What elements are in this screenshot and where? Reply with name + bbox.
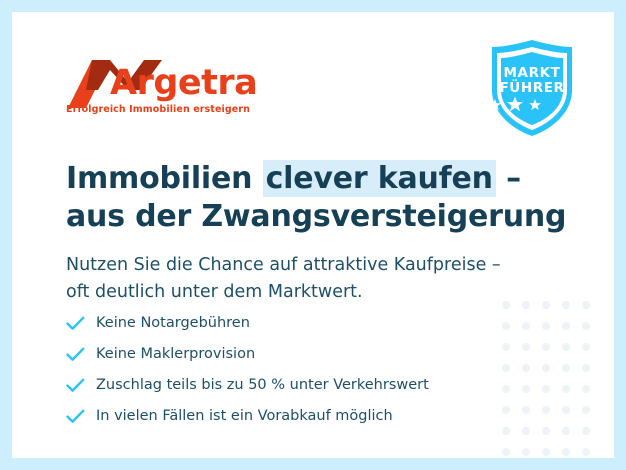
logo-wordmark: Argetra	[110, 66, 257, 101]
list-item: Keine Maklerprovision	[66, 339, 536, 370]
decorative-dot	[562, 322, 570, 330]
list-item-label: Keine Notargebühren	[96, 316, 250, 331]
subheadline-line-1: Nutzen Sie die Chance auf attraktive Kau…	[66, 252, 586, 279]
decorative-dot	[542, 427, 550, 435]
decorative-dot	[582, 343, 590, 351]
decorative-dot	[582, 448, 590, 456]
decorative-dot	[542, 343, 550, 351]
list-item: Keine Notargebühren	[66, 308, 536, 339]
decorative-dot	[562, 385, 570, 393]
subheadline-line-2: oft deutlich unter dem Marktwert.	[66, 279, 586, 306]
decorative-dot	[502, 448, 510, 456]
decorative-dot	[542, 448, 550, 456]
star-icon	[529, 99, 541, 110]
decorative-dot	[582, 406, 590, 414]
decorative-dot	[582, 364, 590, 372]
list-item-label: In vielen Fällen ist ein Vorabkauf mögli…	[96, 409, 393, 424]
list-item-label: Zuschlag teils bis zu 50 % unter Verkehr…	[96, 378, 429, 393]
headline-line-2: aus der Zwangsversteigerung	[66, 198, 566, 236]
list-item-label: Keine Maklerprovision	[96, 347, 255, 362]
page-title: Immobilien clever kaufen – aus der Zwang…	[66, 160, 566, 236]
check-icon	[66, 376, 96, 396]
check-icon	[66, 345, 96, 365]
decorative-dot	[582, 427, 590, 435]
decorative-dot	[542, 322, 550, 330]
banner-inner: Argetra Erfolgreich Immobilien ersteiger…	[12, 12, 614, 458]
decorative-dot	[522, 448, 530, 456]
headline-suffix: –	[496, 161, 521, 196]
decorative-dot	[562, 343, 570, 351]
badge-line-1: MARKT	[486, 65, 578, 81]
decorative-dot	[562, 364, 570, 372]
check-icon	[66, 407, 96, 427]
logo-tagline: Erfolgreich Immobilien ersteigern	[66, 104, 250, 115]
decorative-dot	[582, 385, 590, 393]
check-icon	[66, 314, 96, 334]
headline-line-1: Immobilien clever kaufen –	[66, 160, 566, 198]
badge-stars	[486, 96, 578, 112]
star-icon	[507, 97, 523, 112]
argetra-logo[interactable]: Argetra Erfolgreich Immobilien ersteiger…	[66, 56, 266, 120]
decorative-dot	[562, 406, 570, 414]
decorative-dot	[542, 364, 550, 372]
subheadline: Nutzen Sie die Chance auf attraktive Kau…	[66, 252, 586, 306]
decorative-dot	[562, 448, 570, 456]
star-icon	[489, 99, 501, 110]
promo-banner: Argetra Erfolgreich Immobilien ersteiger…	[0, 0, 626, 470]
decorative-dot	[582, 322, 590, 330]
decorative-dot	[562, 427, 570, 435]
decorative-dot	[542, 385, 550, 393]
list-item: In vielen Fällen ist ein Vorabkauf mögli…	[66, 401, 536, 432]
list-item: Zuschlag teils bis zu 50 % unter Verkehr…	[66, 370, 536, 401]
benefits-list: Keine NotargebührenKeine Maklerprovision…	[66, 308, 536, 432]
decorative-dot	[542, 406, 550, 414]
headline-highlight: clever kaufen	[263, 160, 496, 197]
headline-prefix: Immobilien	[66, 161, 263, 196]
badge-line-2: FÜHRER	[486, 80, 578, 96]
market-leader-badge: MARKT FÜHRER	[486, 38, 578, 138]
